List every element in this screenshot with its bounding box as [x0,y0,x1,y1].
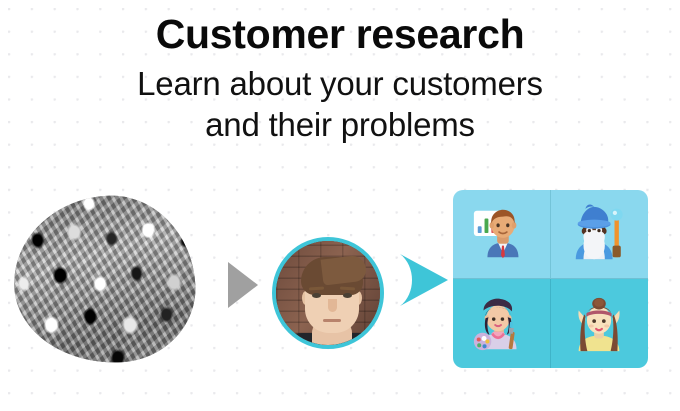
heading-block: Customer research Learn about your custo… [0,10,680,146]
slide-canvas: Customer research Learn about your custo… [0,0,680,411]
persona-cell-artist[interactable] [453,279,551,368]
page-subtitle: Learn about your customers and their pro… [0,64,680,146]
arrow-right-cyan-icon [396,252,452,308]
portrait-nose [328,299,337,312]
page-subtitle-line-1: Learn about your customers [0,64,680,105]
mage-emoji [568,203,630,265]
persona-grid [453,190,648,368]
page-subtitle-line-2: and their problems [0,105,680,146]
page-title: Customer research [0,10,680,58]
woman-artist-emoji [470,293,532,355]
customer-portrait-avatar [272,237,384,349]
crowd-photo-texture [10,191,199,367]
arrow-right-gray-icon [228,262,258,308]
man-teacher-emoji [470,203,532,265]
woman-elf-emoji [568,293,630,355]
persona-cell-mage[interactable] [551,190,649,279]
crowd-blob-image [10,191,199,367]
persona-cell-office-presenter[interactable] [453,190,551,279]
portrait-eye-left [312,293,321,298]
persona-cell-elf[interactable] [551,279,649,368]
portrait-eye-right [343,293,352,298]
portrait-mouth [323,319,341,322]
